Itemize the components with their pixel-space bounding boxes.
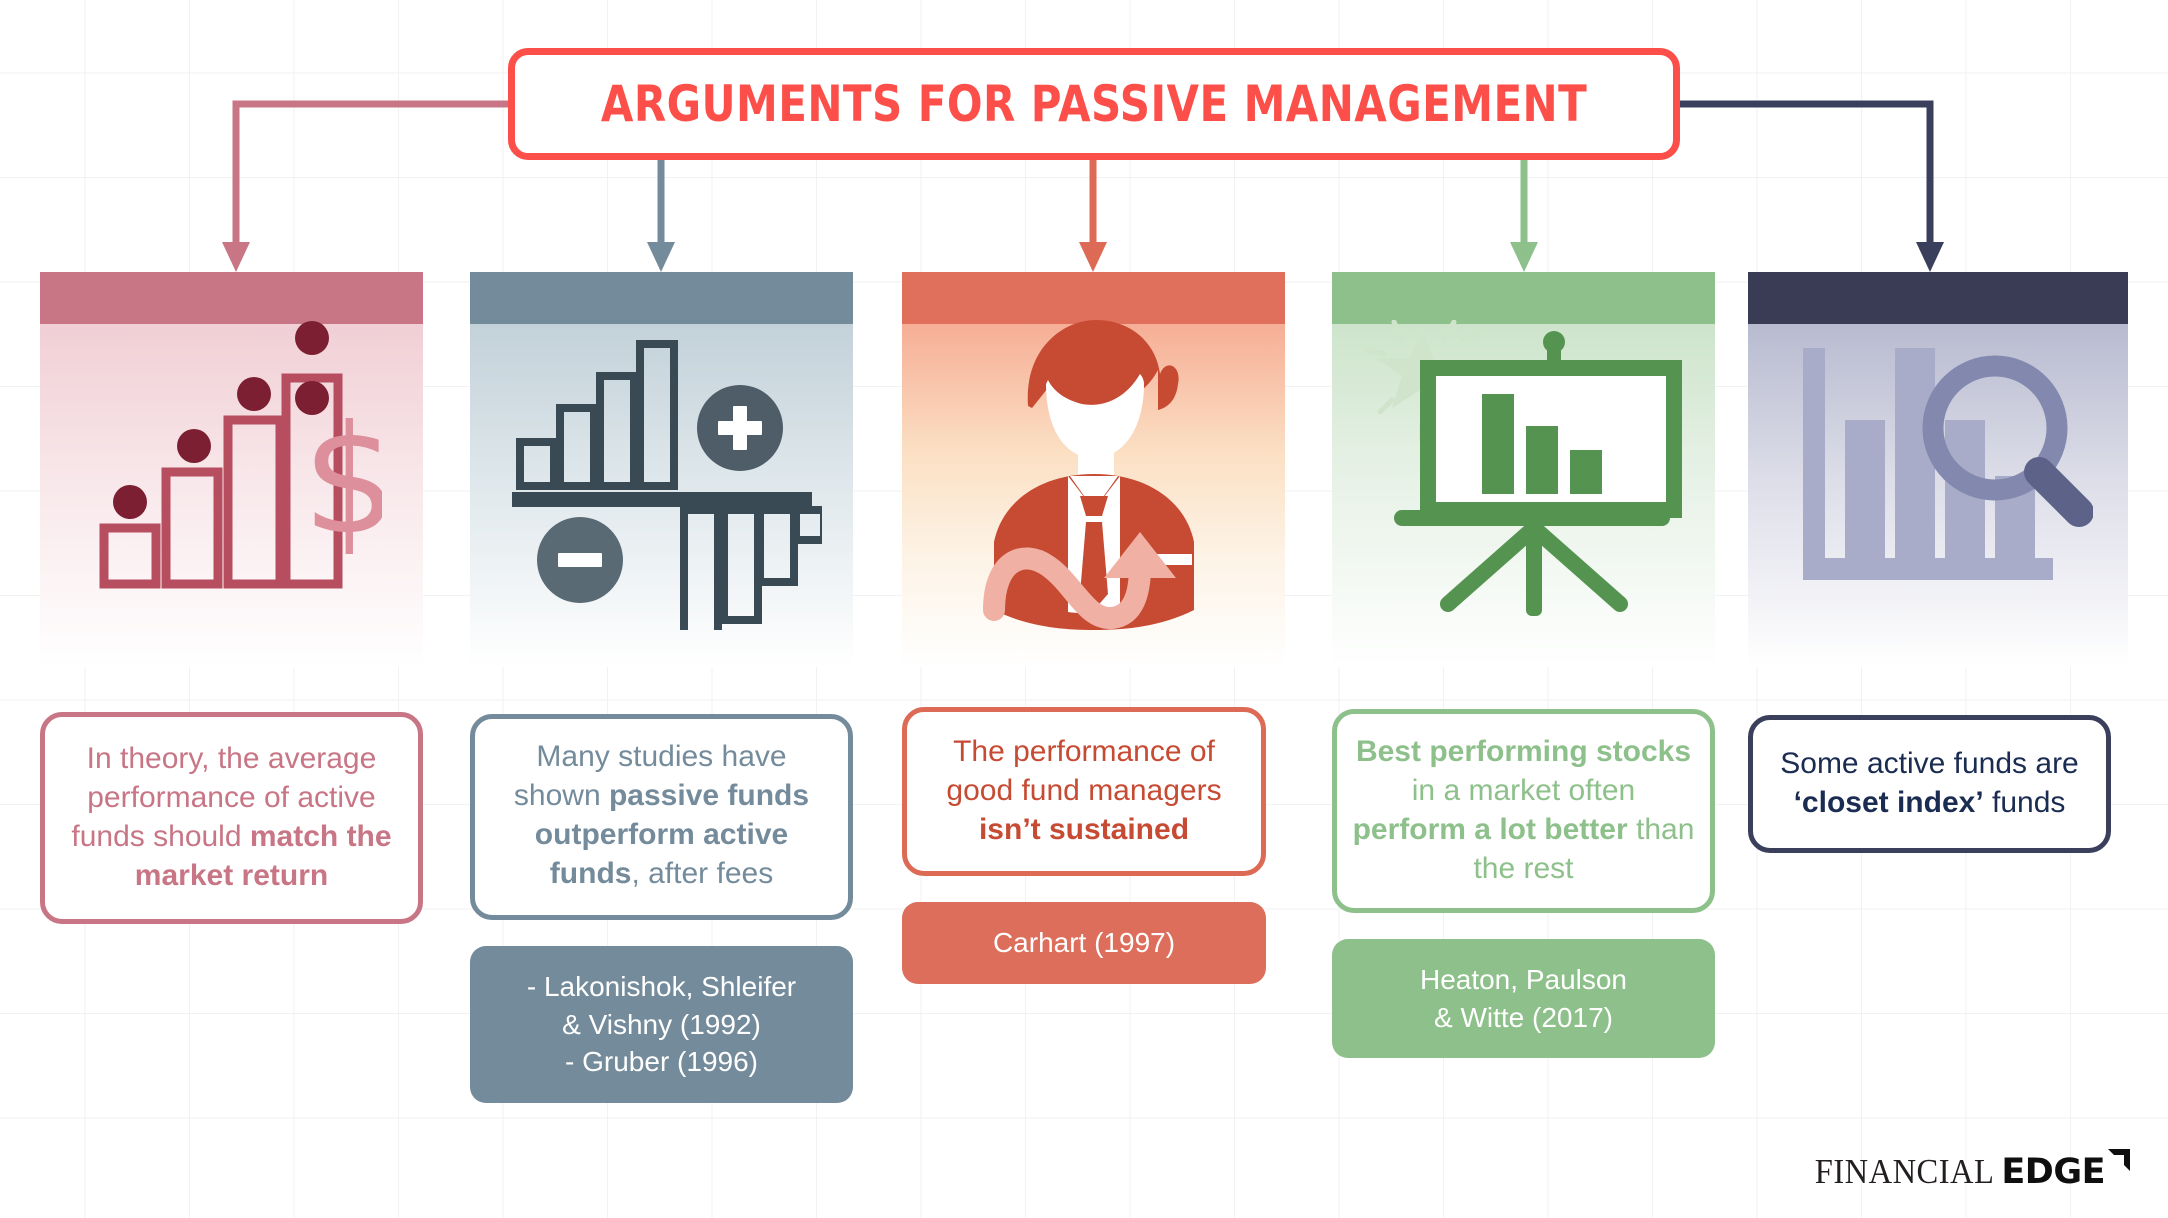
connector-to-column-4 (1510, 160, 1538, 272)
statement-text-bold-2: perform a lot better (1353, 813, 1628, 846)
statement-text-plain-0: The performance of good fund managers (946, 735, 1221, 807)
main-title-box: ARGUMENTS FOR PASSIVE MANAGEMENT (508, 48, 1680, 160)
statement-text-bold-0: Best performing stocks (1356, 735, 1691, 768)
connector-to-column-3 (1079, 160, 1107, 272)
financial-edge-logo: FINANCIAL EDGE (1808, 1147, 2132, 1192)
fund-manager-person-icon (902, 272, 1285, 667)
column-performance-not-sustained: The performance of good fund managers is… (902, 272, 1285, 984)
icon-panel (902, 272, 1285, 667)
column-average-performance: $ In theory, the average performance of … (40, 272, 423, 924)
statement-box: In theory, the average performance of ac… (40, 712, 423, 924)
column-closet-index-funds: Some active funds are ‘closet index’ fun… (1748, 272, 2131, 853)
citation-line: & Witte (2017) (1348, 999, 1699, 1037)
citation-box: Carhart (1997) (902, 902, 1266, 984)
plus-minus-bars-balance-icon (470, 272, 853, 667)
citation-line: - Gruber (1996) (486, 1043, 837, 1081)
statement-box: Best performing stocks in a market often… (1332, 709, 1715, 913)
citation-line: & Vishny (1992) (486, 1006, 837, 1044)
citation-box: - Lakonishok, Shleifer & Vishny (1992) -… (470, 946, 853, 1103)
column-studies-outperform: Many studies have shown passive funds ou… (470, 272, 853, 1103)
statement-text-bold-1: ‘closet index’ (1794, 786, 1984, 819)
corner-bracket-icon (2106, 1147, 2132, 1178)
logo-text-bold: EDGE (2001, 1152, 2105, 1192)
page-title: ARGUMENTS FOR PASSIVE MANAGEMENT (601, 75, 1587, 133)
column-best-performing-stocks: Best performing stocks in a market often… (1332, 272, 1715, 1058)
statement-text-plain-2: funds (1984, 786, 2066, 819)
icon-panel (470, 272, 853, 667)
statement-text-plain-2: , after fees (631, 857, 773, 890)
connector-to-column-5 (1680, 104, 1944, 272)
svg-text:$: $ (302, 394, 382, 568)
icon-panel (1332, 272, 1715, 667)
statement-text-plain-0: Some active funds are (1780, 747, 2079, 780)
connector-to-column-1 (222, 104, 508, 272)
icon-panel: $ (40, 272, 423, 667)
logo-text-light: FINANCIAL (1815, 1152, 1995, 1192)
statement-text-bold-1: isn’t sustained (979, 813, 1189, 846)
icon-panel (1748, 272, 2128, 667)
connector-to-column-2 (647, 160, 675, 272)
statement-text-plain-1: in a market often (1412, 774, 1635, 807)
citation-box: Heaton, Paulson & Witte (2017) (1332, 939, 1715, 1058)
bar-chart-magnifier-icon (1748, 272, 2128, 667)
statement-box: The performance of good fund managers is… (902, 707, 1266, 876)
presentation-easel-chart-icon (1332, 272, 1715, 667)
citation-line: - Lakonishok, Shleifer (486, 968, 837, 1006)
statement-box: Some active funds are ‘closet index’ fun… (1748, 715, 2111, 853)
bar-chart-dots-dollar-icon: $ (40, 272, 423, 667)
citation-line: Heaton, Paulson (1348, 961, 1699, 999)
statement-box: Many studies have shown passive funds ou… (470, 714, 853, 920)
infographic-canvas: ARGUMENTS FOR PASSIVE MANAGEMENT (0, 0, 2168, 1218)
citation-line: Carhart (1997) (918, 924, 1250, 962)
